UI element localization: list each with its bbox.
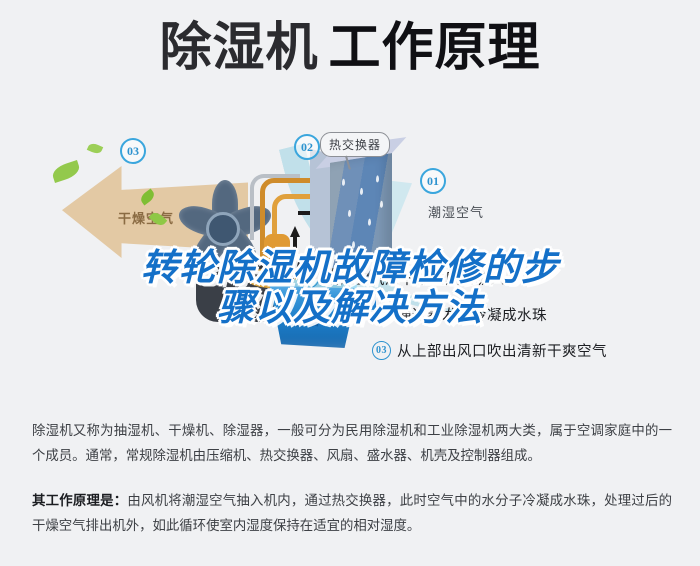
step-badge-03: 03 [372,341,391,360]
step-text-01: 潮湿空气从下部进风口吸入 [325,268,505,289]
step-badge-01: 01 [300,269,319,288]
step-item-03: 03 从上部出风口吹出清新干爽空气 [372,340,607,361]
paragraph-1: 除湿机又称为抽湿机、干燥机、除湿器，一般可分为民用除湿机和工业除湿机两大类，属于… [32,418,672,468]
step-text-02: 通过蒸发器冷凝成水珠 [397,304,547,325]
paragraph-2: 其工作原理是：由风机将潮湿空气抽入机内，通过热交换器，此时空气中的水分子冷凝成水… [32,488,672,538]
step-text-03: 从上部出风口吹出清新干爽空气 [397,340,607,361]
page-title: 除湿机工作原理 [0,22,700,74]
paragraph-2-lead: 其工作原理是： [32,493,127,508]
step-item-02: 02 通过蒸发器冷凝成水珠 [372,304,547,325]
dehumidifier-diagram: 干燥空气 [0,118,700,398]
paragraph-2-rest: 由风机将潮湿空气抽入机内，通过热交换器，此时空气中的水分子冷凝成水珠，处理过后的… [32,493,672,533]
page-title-part2: 工作原理 [329,22,541,74]
step-badge-02: 02 [372,305,391,324]
step-item-01: 01 潮湿空气从下部进风口吸入 [300,268,505,289]
step-list: 01 潮湿空气从下部进风口吸入 02 通过蒸发器冷凝成水珠 03 从上部出风口吹… [0,118,700,398]
article-body: 除湿机又称为抽湿机、干燥机、除湿器，一般可分为民用除湿机和工业除湿机两大类，属于… [32,418,672,558]
page-title-part1: 除湿机 [159,22,318,74]
page-root: 除湿机工作原理 干燥空气 [0,0,700,566]
